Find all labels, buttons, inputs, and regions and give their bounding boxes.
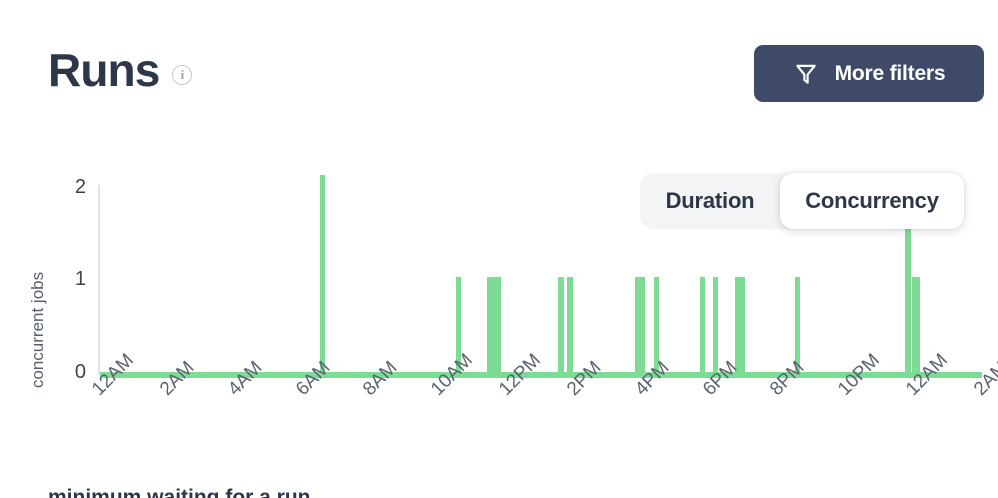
tab-concurrency-label: Concurrency <box>805 188 939 214</box>
chart-view-toggle[interactable]: Duration Concurrency <box>640 173 964 229</box>
page-title-group: Runs i <box>48 47 192 93</box>
chart-bar[interactable] <box>735 277 745 379</box>
more-filters-button[interactable]: More filters <box>754 45 984 102</box>
page-title: Runs <box>48 47 159 93</box>
page-header: Runs i More filters <box>0 0 998 130</box>
chart-bar[interactable] <box>567 277 573 379</box>
chart-bar[interactable] <box>713 277 718 379</box>
y-tick-label: 1 <box>56 268 86 291</box>
more-filters-label: More filters <box>835 62 946 86</box>
tab-concurrency[interactable]: Concurrency <box>780 173 964 229</box>
chart-bar[interactable] <box>320 175 325 378</box>
footer-clipped-text: minimum waiting for a run <box>48 486 311 498</box>
chart-bar[interactable] <box>558 277 564 379</box>
y-tick-label: 2 <box>56 176 86 199</box>
x-axis-tick-labels: 12AM2AM4AM6AM8AM10AM12PM2PM4PM6PM8PM10PM… <box>0 385 998 465</box>
chart-bar[interactable] <box>487 277 501 379</box>
tab-duration-label: Duration <box>666 188 755 214</box>
chart-bar[interactable] <box>912 277 920 379</box>
info-icon[interactable]: i <box>172 65 192 85</box>
tab-duration[interactable]: Duration <box>640 173 780 229</box>
chart-bar[interactable] <box>700 277 705 379</box>
y-tick-label: 0 <box>56 361 86 384</box>
chart-bar[interactable] <box>635 277 645 379</box>
filter-funnel-icon <box>793 61 819 87</box>
